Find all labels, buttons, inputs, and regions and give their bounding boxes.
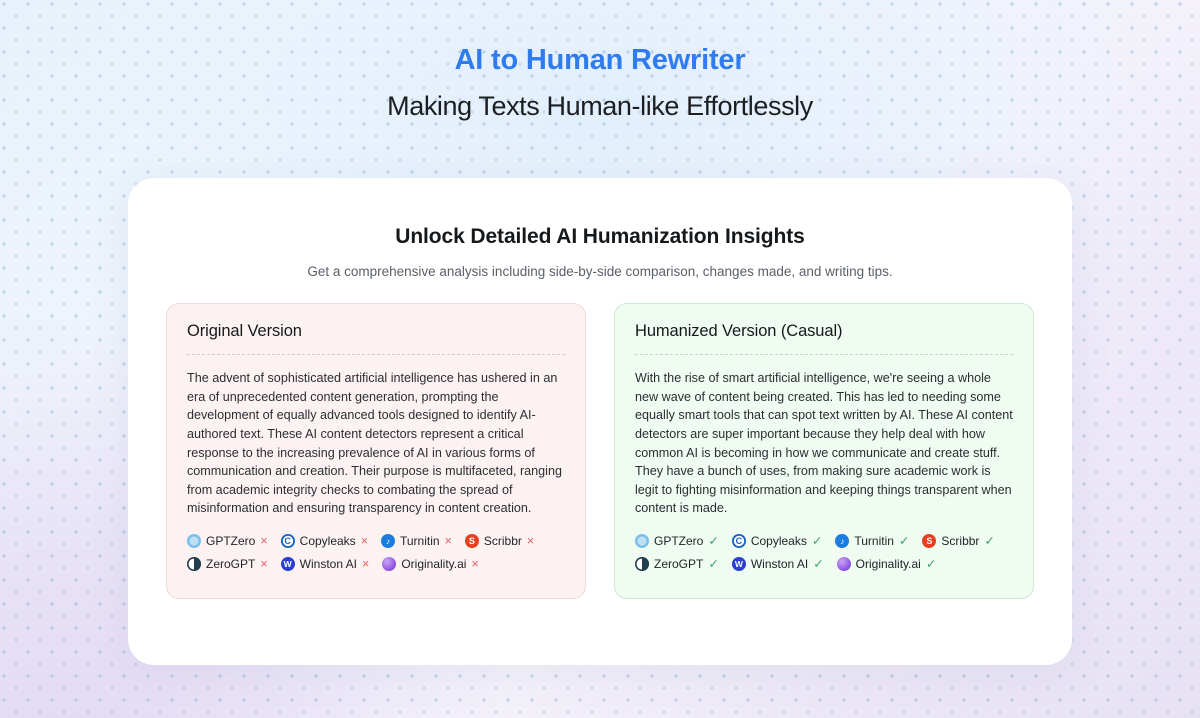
humanized-version-card: Humanized Version (Casual) With the rise… — [614, 303, 1034, 599]
check-icon: ✓ — [984, 535, 994, 548]
cross-icon: × — [361, 535, 368, 548]
humanized-detector-list: GPTZero✓CCopyleaks✓♪Turnitin✓SScribbr✓Ze… — [635, 534, 1013, 580]
detector-name: GPTZero — [654, 534, 703, 548]
humanized-version-heading: Humanized Version (Casual) — [635, 322, 1013, 341]
panel-title: Unlock Detailed AI Humanization Insights — [128, 225, 1072, 249]
detector-name: GPTZero — [206, 534, 255, 548]
detector-name: Scribbr — [484, 534, 522, 548]
detector-badge-copyleaks[interactable]: CCopyleaks× — [281, 534, 368, 548]
copyleaks-icon: C — [732, 534, 746, 548]
detector-badge-zerogpt[interactable]: ZeroGPT✓ — [635, 557, 719, 571]
page-subtitle: Making Texts Human-like Effortlessly — [0, 91, 1200, 122]
detector-badge-originality-ai[interactable]: Originality.ai✓ — [837, 557, 937, 571]
cross-icon: × — [471, 558, 478, 571]
humanized-version-text: With the rise of smart artificial intell… — [635, 369, 1013, 518]
turnitin-icon: ♪ — [381, 534, 395, 548]
detector-name: Turnitin — [400, 534, 440, 548]
detector-badge-originality-ai[interactable]: Originality.ai× — [382, 557, 478, 571]
detector-name: Winston AI — [751, 557, 808, 571]
divider — [187, 354, 565, 355]
detector-badge-scribbr[interactable]: SScribbr✓ — [922, 534, 995, 548]
turnitin-icon: ♪ — [835, 534, 849, 548]
detector-badge-turnitin[interactable]: ♪Turnitin✓ — [835, 534, 909, 548]
scribbr-icon: S — [922, 534, 936, 548]
winston-icon: W — [732, 557, 746, 571]
originality-icon — [382, 557, 396, 571]
comparison-columns: Original Version The advent of sophistic… — [128, 279, 1072, 599]
originality-icon — [837, 557, 851, 571]
cross-icon: × — [362, 558, 369, 571]
detector-name: Winston AI — [300, 557, 357, 571]
original-version-card: Original Version The advent of sophistic… — [166, 303, 586, 599]
detector-name: Copyleaks — [300, 534, 356, 548]
detector-badge-scribbr[interactable]: SScribbr× — [465, 534, 534, 548]
gptzero-icon — [635, 534, 649, 548]
original-version-heading: Original Version — [187, 322, 565, 341]
detector-badge-winston-ai[interactable]: WWinston AI× — [281, 557, 370, 571]
page-title: AI to Human Rewriter — [0, 44, 1200, 77]
original-detector-list: GPTZero×CCopyleaks×♪Turnitin×SScribbr×Ze… — [187, 534, 565, 580]
detector-badge-gptzero[interactable]: GPTZero× — [187, 534, 268, 548]
check-icon: ✓ — [812, 535, 822, 548]
check-icon: ✓ — [708, 558, 718, 571]
insights-panel: Unlock Detailed AI Humanization Insights… — [128, 178, 1072, 665]
divider — [635, 354, 1013, 355]
cross-icon: × — [527, 535, 534, 548]
cross-icon: × — [260, 558, 267, 571]
detector-badge-zerogpt[interactable]: ZeroGPT× — [187, 557, 268, 571]
winston-icon: W — [281, 557, 295, 571]
check-icon: ✓ — [813, 558, 823, 571]
detector-name: Originality.ai — [401, 557, 466, 571]
check-icon: ✓ — [899, 535, 909, 548]
cross-icon: × — [445, 535, 452, 548]
detector-badge-copyleaks[interactable]: CCopyleaks✓ — [732, 534, 823, 548]
detector-name: Copyleaks — [751, 534, 807, 548]
check-icon: ✓ — [708, 535, 718, 548]
panel-subtitle: Get a comprehensive analysis including s… — [128, 264, 1072, 279]
detector-badge-gptzero[interactable]: GPTZero✓ — [635, 534, 719, 548]
copyleaks-icon: C — [281, 534, 295, 548]
detector-badge-winston-ai[interactable]: WWinston AI✓ — [732, 557, 824, 571]
detector-name: Originality.ai — [856, 557, 921, 571]
detector-name: Turnitin — [854, 534, 894, 548]
detector-badge-turnitin[interactable]: ♪Turnitin× — [381, 534, 452, 548]
cross-icon: × — [260, 535, 267, 548]
page-header: AI to Human Rewriter Making Texts Human-… — [0, 0, 1200, 122]
gptzero-icon — [187, 534, 201, 548]
detector-name: Scribbr — [941, 534, 979, 548]
scribbr-icon: S — [465, 534, 479, 548]
detector-name: ZeroGPT — [206, 557, 255, 571]
detector-name: ZeroGPT — [654, 557, 703, 571]
original-version-text: The advent of sophisticated artificial i… — [187, 369, 565, 518]
zerogpt-icon — [187, 557, 201, 571]
check-icon: ✓ — [926, 558, 936, 571]
zerogpt-icon — [635, 557, 649, 571]
